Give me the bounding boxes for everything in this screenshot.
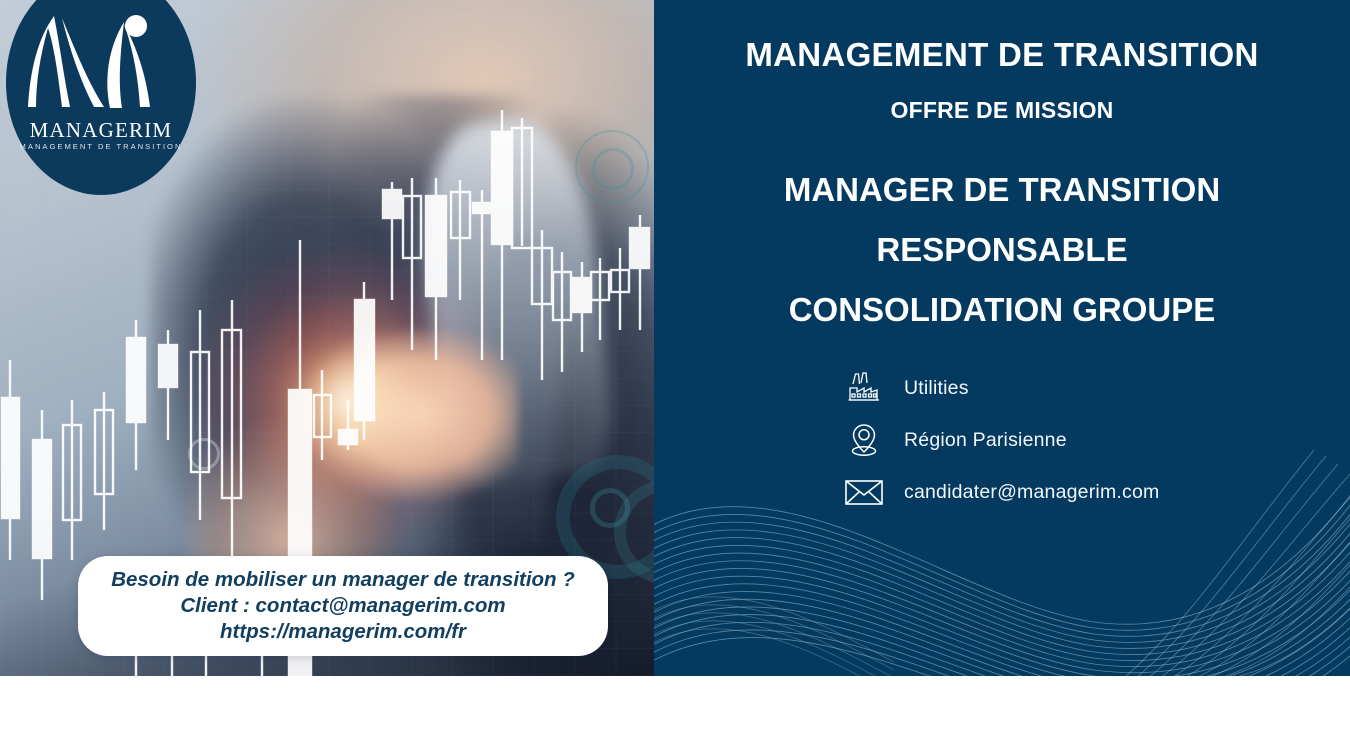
info-row-sector: Utilities [836,362,1336,414]
factory-icon [836,370,892,406]
envelope-icon [836,477,892,507]
location-pin-icon [836,421,892,459]
logo-tagline: MANAGEMENT DE TRANSITION [6,142,196,151]
photo-panel: MANAGERIM MANAGEMENT DE TRANSITION Besoi… [0,0,654,676]
info-row-location: Région Parisienne [836,414,1336,466]
role-title: MANAGER DE TRANSITION RESPONSABLE CONSOL… [654,160,1350,340]
callout-line-3[interactable]: https://managerim.com/fr [220,619,466,645]
poster-heading-secondary: OFFRE DE MISSION [654,97,1350,124]
role-line-2: RESPONSABLE [654,220,1350,280]
callout-line-2: Client : contact@managerim.com [180,593,505,619]
info-label-location: Région Parisienne [892,429,1067,452]
role-line-1: MANAGER DE TRANSITION [654,160,1350,220]
role-line-3: CONSOLIDATION GROUPE [654,280,1350,340]
info-label-sector: Utilities [892,377,969,400]
poster-heading-primary: MANAGEMENT DE TRANSITION [654,36,1350,74]
mission-info-list: Utilities Région Parisienne [836,362,1336,518]
callout-line-1: Besoin de mobiliser un manager de transi… [111,567,575,593]
contact-callout: Besoin de mobiliser un manager de transi… [78,556,608,656]
offer-poster: MANAGERIM MANAGEMENT DE TRANSITION Besoi… [0,0,1350,676]
info-panel: MANAGEMENT DE TRANSITION OFFRE DE MISSIO… [654,0,1350,676]
info-label-email[interactable]: candidater@managerim.com [892,481,1159,504]
info-row-email: candidater@managerim.com [836,466,1336,518]
managerim-m-monogram-icon [18,12,184,112]
logo-wordmark: MANAGERIM [6,118,196,143]
